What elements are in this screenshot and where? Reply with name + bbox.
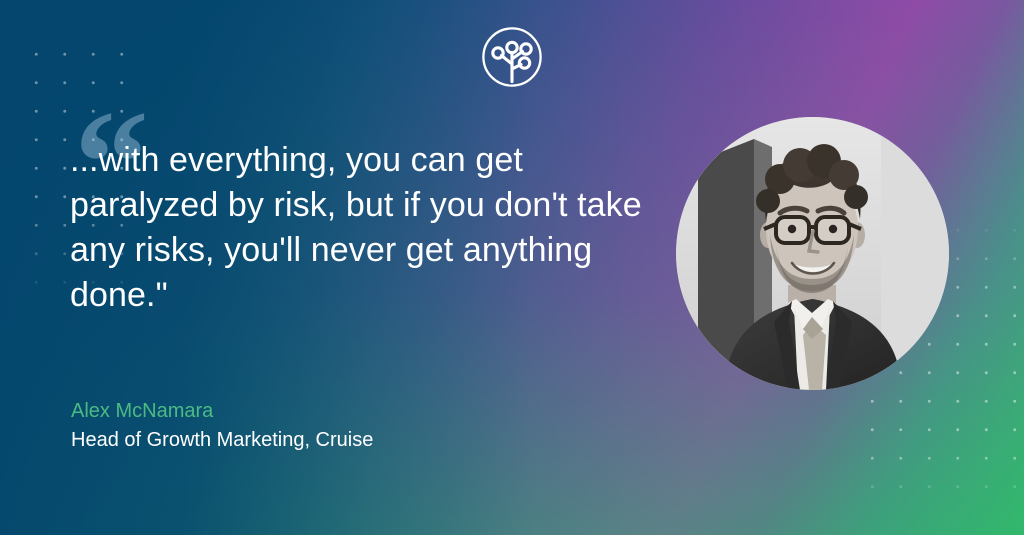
quote-text: ...with everything, you can get paralyze… xyxy=(70,138,650,318)
avatar xyxy=(676,117,949,390)
branching-tree-circle-logo-icon xyxy=(481,26,543,88)
testimonial-card: “ ...with everything, you can get paraly… xyxy=(0,0,1024,535)
author-title: Head of Growth Marketing, Cruise xyxy=(71,427,373,453)
author-name: Alex McNamara xyxy=(71,398,373,424)
attribution: Alex McNamara Head of Growth Marketing, … xyxy=(71,398,373,453)
